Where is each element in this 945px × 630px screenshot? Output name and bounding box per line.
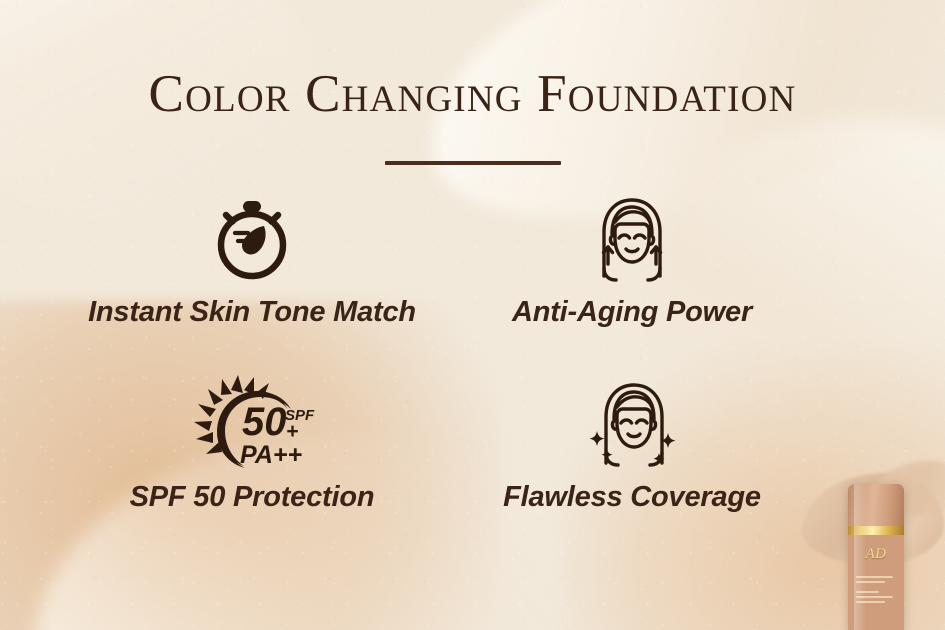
title-divider-rule: [385, 161, 561, 165]
feature-grid: Instant Skin Tone Match: [62, 186, 822, 556]
svg-text:50: 50: [242, 400, 287, 444]
poster-content: Color Changing Foundation: [0, 0, 945, 630]
face-lift-arrows-icon: [582, 186, 682, 290]
stopwatch-icon: [204, 186, 300, 290]
foundation-bottle: AD: [848, 484, 904, 630]
product-feature-poster: Color Changing Foundation: [0, 0, 945, 630]
feature-label: Anti-Aging Power: [512, 296, 752, 329]
page-title: Color Changing Foundation: [0, 66, 945, 122]
svg-text:PA++: PA++: [240, 441, 302, 469]
svg-text:+: +: [286, 420, 298, 443]
feature-item-anti-aging-power: Anti-Aging Power: [442, 186, 822, 371]
feature-label: SPF 50 Protection: [130, 481, 375, 514]
face-sparkle-icon: [580, 371, 684, 475]
feature-item-flawless-coverage: Flawless Coverage: [442, 371, 822, 556]
spf-sun-badge-icon: 50 SPF + PA++: [186, 371, 318, 475]
feature-item-instant-skin-tone-match: Instant Skin Tone Match: [62, 186, 442, 371]
bottle-highlight: [854, 484, 865, 630]
feature-item-spf-50-protection: 50 SPF + PA++ SPF 50 Protection: [62, 371, 442, 556]
feature-label: Flawless Coverage: [503, 481, 761, 514]
feature-label: Instant Skin Tone Match: [88, 296, 416, 329]
product-image: AD: [820, 455, 945, 630]
